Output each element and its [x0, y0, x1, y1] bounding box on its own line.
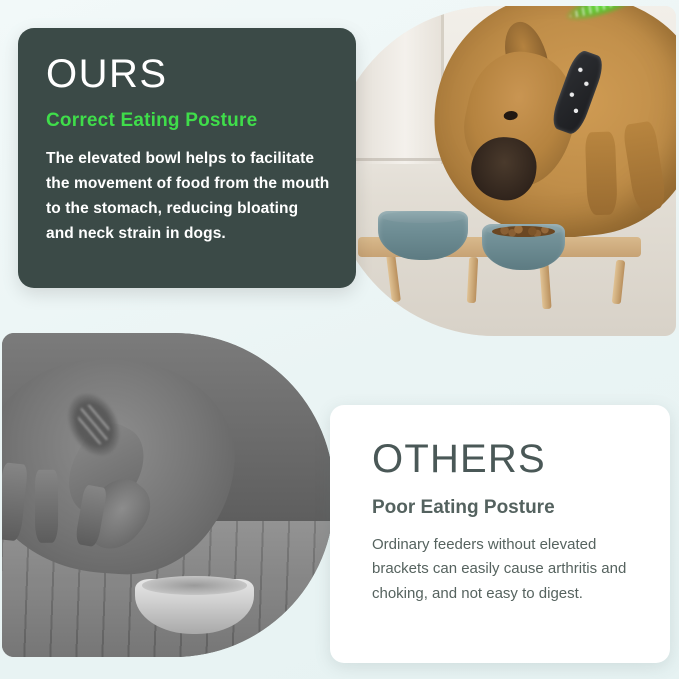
ours-title: OURS: [46, 54, 330, 94]
kibble-food: [492, 226, 555, 237]
comparison-infographic: OURS Correct Eating Posture The elevated…: [0, 0, 679, 679]
ours-photo: [330, 6, 676, 336]
green-spine-highlight-icon: [561, 6, 653, 30]
dog-leg: [584, 131, 617, 215]
ours-subtitle: Correct Eating Posture: [46, 110, 330, 132]
gray-dog-leg: [35, 470, 58, 543]
ours-body-text: The elevated bowl helps to facilitate th…: [46, 146, 330, 246]
ours-photo-doorframe: [351, 6, 444, 164]
ours-card: OURS Correct Eating Posture The elevated…: [18, 28, 356, 288]
dog-leg: [622, 120, 668, 212]
bowl-rim: [382, 211, 465, 224]
others-card: OTHERS Poor Eating Posture Ordinary feed…: [330, 405, 670, 663]
others-title: OTHERS: [372, 439, 644, 479]
others-photo: [2, 333, 334, 657]
gray-dog-leg: [2, 462, 29, 541]
others-body-text: Ordinary feeders without elevated bracke…: [372, 533, 644, 606]
others-subtitle: Poor Eating Posture: [372, 497, 644, 519]
